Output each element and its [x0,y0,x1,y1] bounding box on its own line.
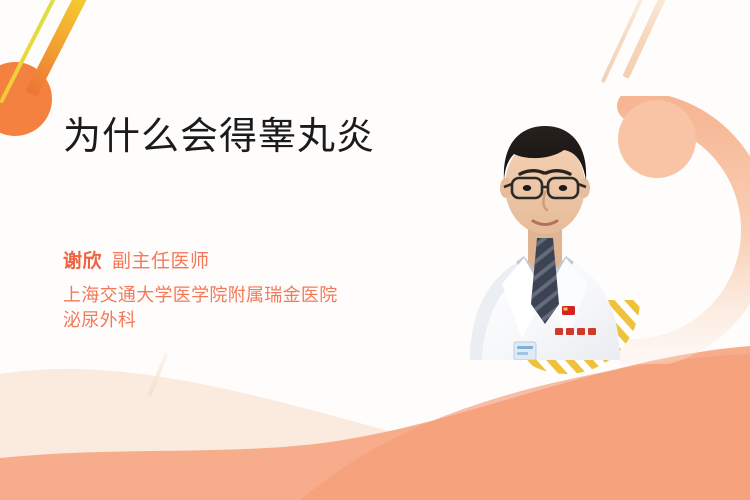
circle-peach-right-decoration [618,100,696,178]
stripe-thick-top-left-decoration [26,0,92,97]
title-block: 为什么会得睾丸炎 [63,114,463,162]
doctor-hospital: 上海交通大学医学院附属瑞金医院 [63,283,483,309]
striped-semicircle-decoration [492,300,640,392]
doctor-name: 谢欣 [63,251,102,272]
doctor-affiliation: 上海交通大学医学院附属瑞金医院 泌尿外科 [63,283,483,334]
doctor-rank: 副主任医师 [112,251,210,272]
stripe-thin-top-left-decoration [0,0,62,104]
doctor-department: 泌尿外科 [63,308,483,334]
waves-bottom-decoration [0,330,750,500]
page-title: 为什么会得睾丸炎 [63,114,463,162]
stripe-thick-top-right-decoration [622,0,674,79]
circle-orange-left-decoration [0,62,52,136]
arc-ring-right-decoration [584,96,750,364]
stripe-faint-bottom-left-decoration [148,352,169,396]
doctor-name-line: 谢欣副主任医师 [63,248,483,277]
doctor-video-card: 为什么会得睾丸炎 谢欣副主任医师 上海交通大学医学院附属瑞金医院 泌尿外科 [0,0,750,500]
stripe-thin-top-right-decoration [601,0,652,83]
doctor-credit-block: 谢欣副主任医师 上海交通大学医学院附属瑞金医院 泌尿外科 [63,248,483,334]
